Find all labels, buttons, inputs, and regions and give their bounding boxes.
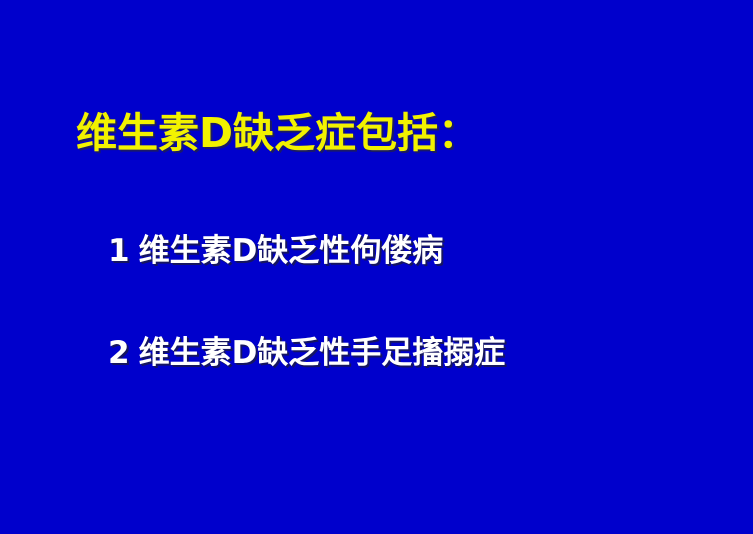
list-item-label: 维生素D缺乏性佝偻病 <box>139 233 444 269</box>
list-item-marker: 2 <box>108 335 130 371</box>
list-item: 1维生素D缺乏性佝偻病 <box>108 232 708 270</box>
slide-body-list: 1维生素D缺乏性佝偻病 2维生素D缺乏性手足搐搦症 <box>108 232 708 372</box>
slide-canvas: 维生素D缺乏症包括： 1维生素D缺乏性佝偻病 2维生素D缺乏性手足搐搦症 <box>0 0 753 534</box>
list-item: 2维生素D缺乏性手足搐搦症 <box>108 334 708 372</box>
list-item-label: 维生素D缺乏性手足搐搦症 <box>139 335 506 371</box>
slide-title: 维生素D缺乏症包括： <box>76 108 479 158</box>
list-item-marker: 1 <box>108 233 130 269</box>
